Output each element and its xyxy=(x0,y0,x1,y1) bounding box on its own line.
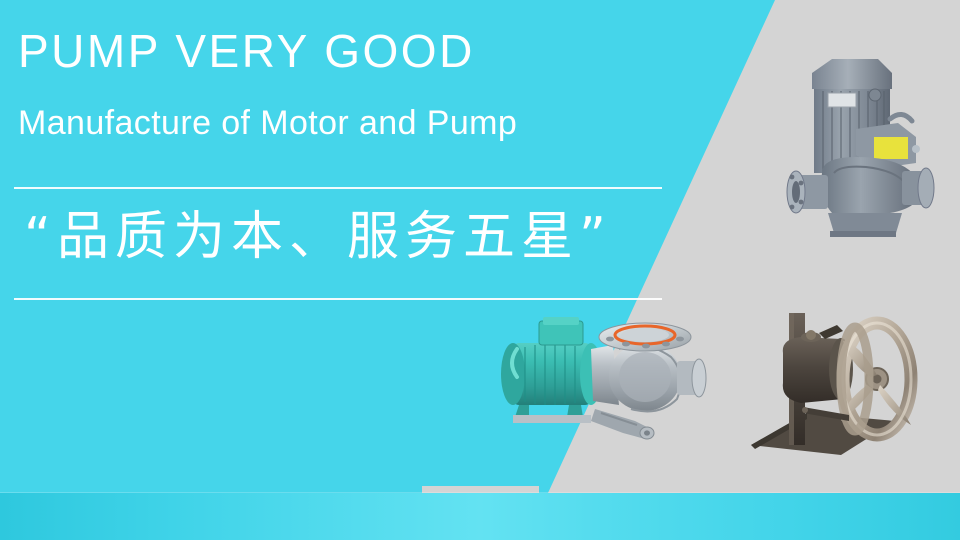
product-image-vertical-inline-pump xyxy=(770,45,955,260)
promo-banner: PUMP VERY GOOD Manufacture of Motor and … xyxy=(0,0,960,540)
bottom-gradient-strip xyxy=(0,493,960,540)
product-image-submersible-mixer xyxy=(745,295,945,465)
product-image-horizontal-centrifugal-pump xyxy=(495,305,730,465)
slogan-text: “品质为本、服务五星” xyxy=(24,205,612,270)
page-title: PUMP VERY GOOD xyxy=(18,28,475,74)
page-subtitle: Manufacture of Motor and Pump xyxy=(18,106,517,140)
divider-top xyxy=(14,187,662,189)
divider-bottom xyxy=(14,298,662,300)
